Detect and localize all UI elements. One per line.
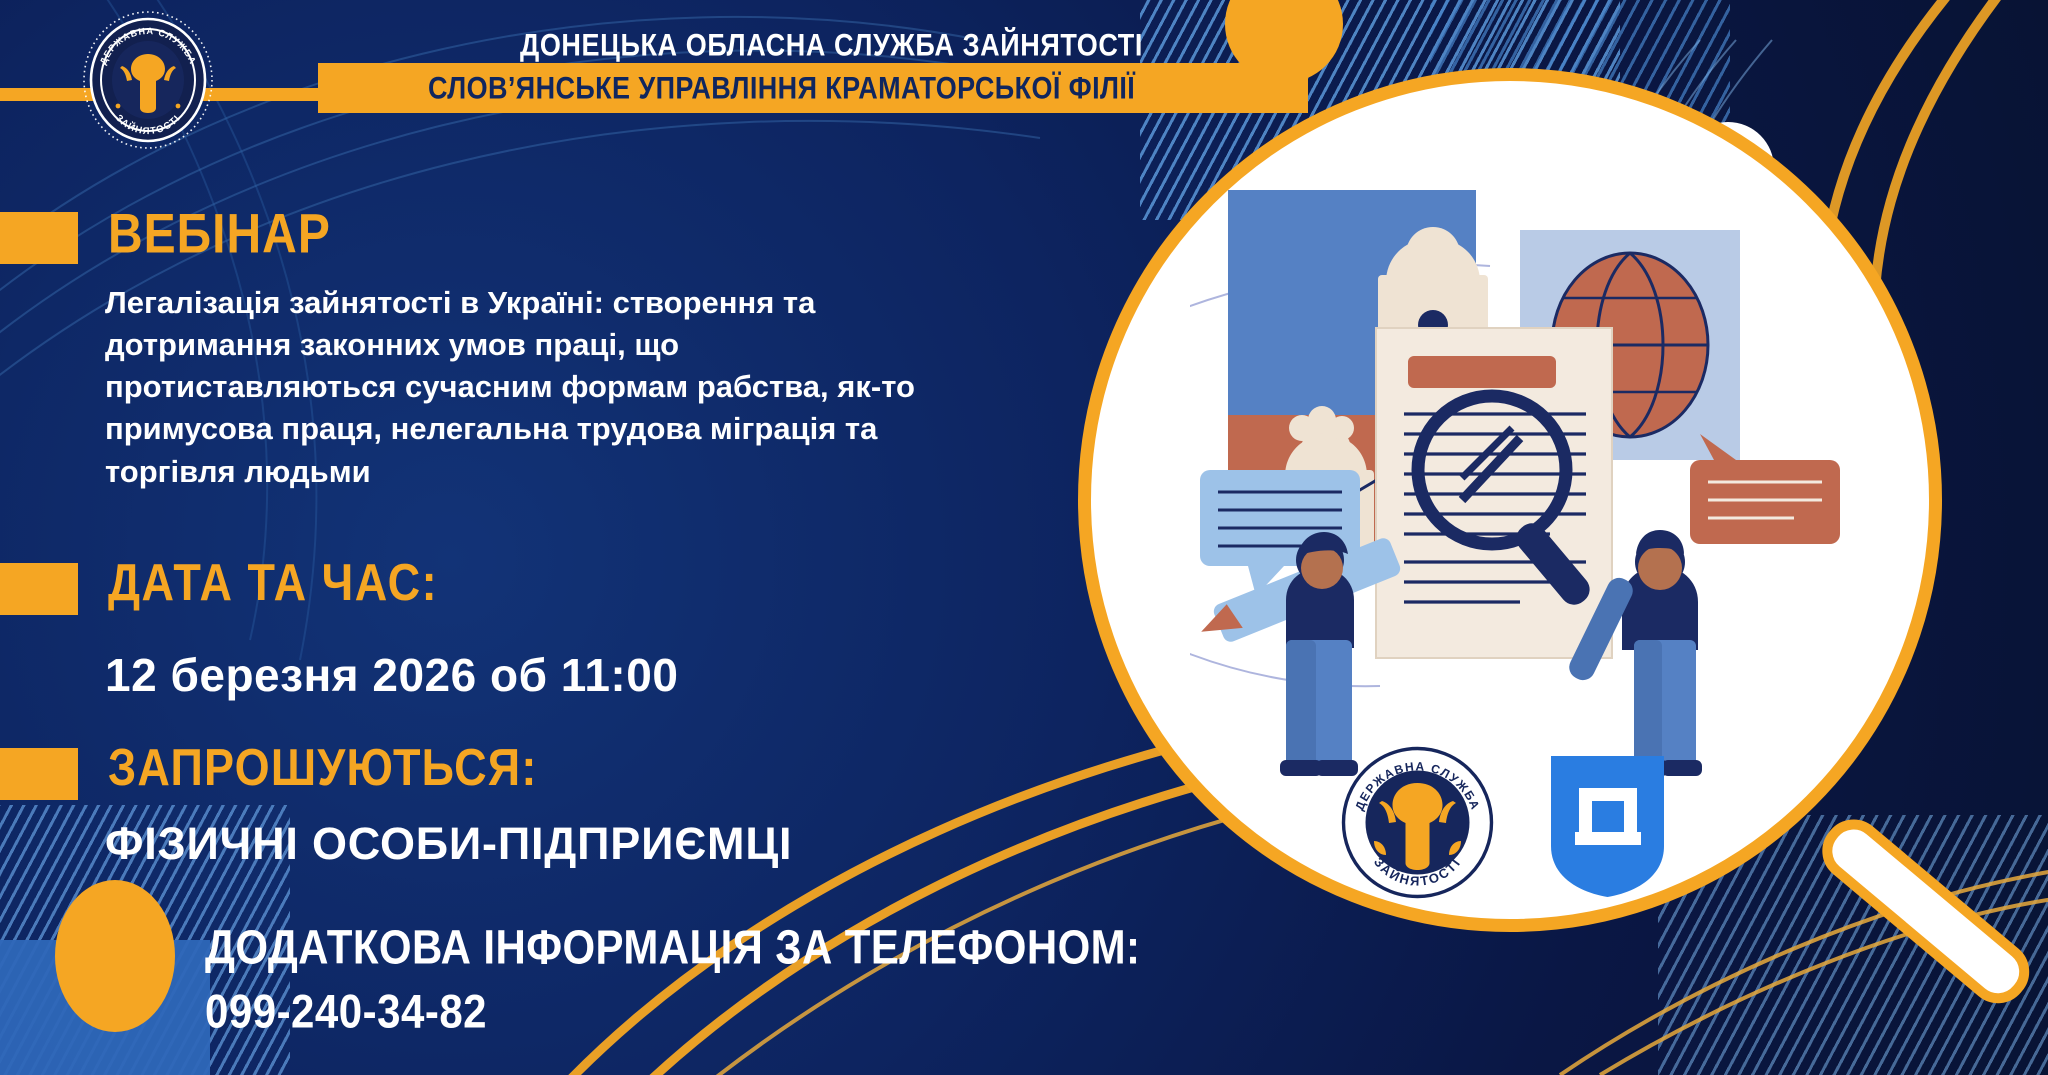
- audience-value: ФІЗИЧНІ ОСОБИ-ПІДПРИЄМЦІ: [105, 818, 792, 870]
- yellow-ellipse-bottom-left: [55, 880, 175, 1032]
- state-employment-service-emblem: ДЕРЖАВНА СЛУЖБА ЗАЙНЯТОСТІ: [1340, 745, 1495, 900]
- event-type-label: ВЕБІНАР: [108, 203, 331, 266]
- datetime-label: ДАТА ТА ЧАС:: [108, 553, 438, 613]
- shield-emblem: [1545, 750, 1670, 900]
- blue-rectangle-bottom-left: [0, 940, 210, 1075]
- magnifier-handle: [1810, 807, 2041, 1015]
- accent-tag-datetime: [0, 563, 78, 615]
- accent-tag-invited: [0, 748, 78, 800]
- branch-title: СЛОВ’ЯНСЬКЕ УПРАВЛІННЯ КРАМАТОРСЬКОЇ ФІЛ…: [318, 70, 1135, 107]
- organization-title: ДОНЕЦЬКА ОБЛАСНА СЛУЖБА ЗАЙНЯТОСТІ: [520, 27, 1143, 64]
- event-description: Легалізація зайнятості в Україні: створе…: [105, 282, 955, 493]
- invited-label: ЗАПРОШУЮТЬСЯ:: [108, 738, 538, 798]
- poster-root: ДЕРЖАВНА СЛУЖБА ЗАЙНЯТОСТІ ДОНЕЦЬКА ОБЛА…: [0, 0, 2048, 1075]
- datetime-value: 12 березня 2026 об 11:00: [105, 648, 678, 702]
- illustration-graphic: [1190, 170, 1870, 830]
- agency-logo: ДЕРЖАВНА СЛУЖБА ЗАЙНЯТОСТІ: [78, 10, 218, 150]
- accent-tag-webinar: [0, 212, 78, 264]
- branch-banner: СЛОВ’ЯНСЬКЕ УПРАВЛІННЯ КРАМАТОРСЬКОЇ ФІЛ…: [318, 63, 1308, 113]
- phone-number[interactable]: 099-240-34-82: [205, 985, 487, 1039]
- phone-label: ДОДАТКОВА ІНФОРМАЦІЯ ЗА ТЕЛЕФОНОМ:: [205, 920, 1140, 975]
